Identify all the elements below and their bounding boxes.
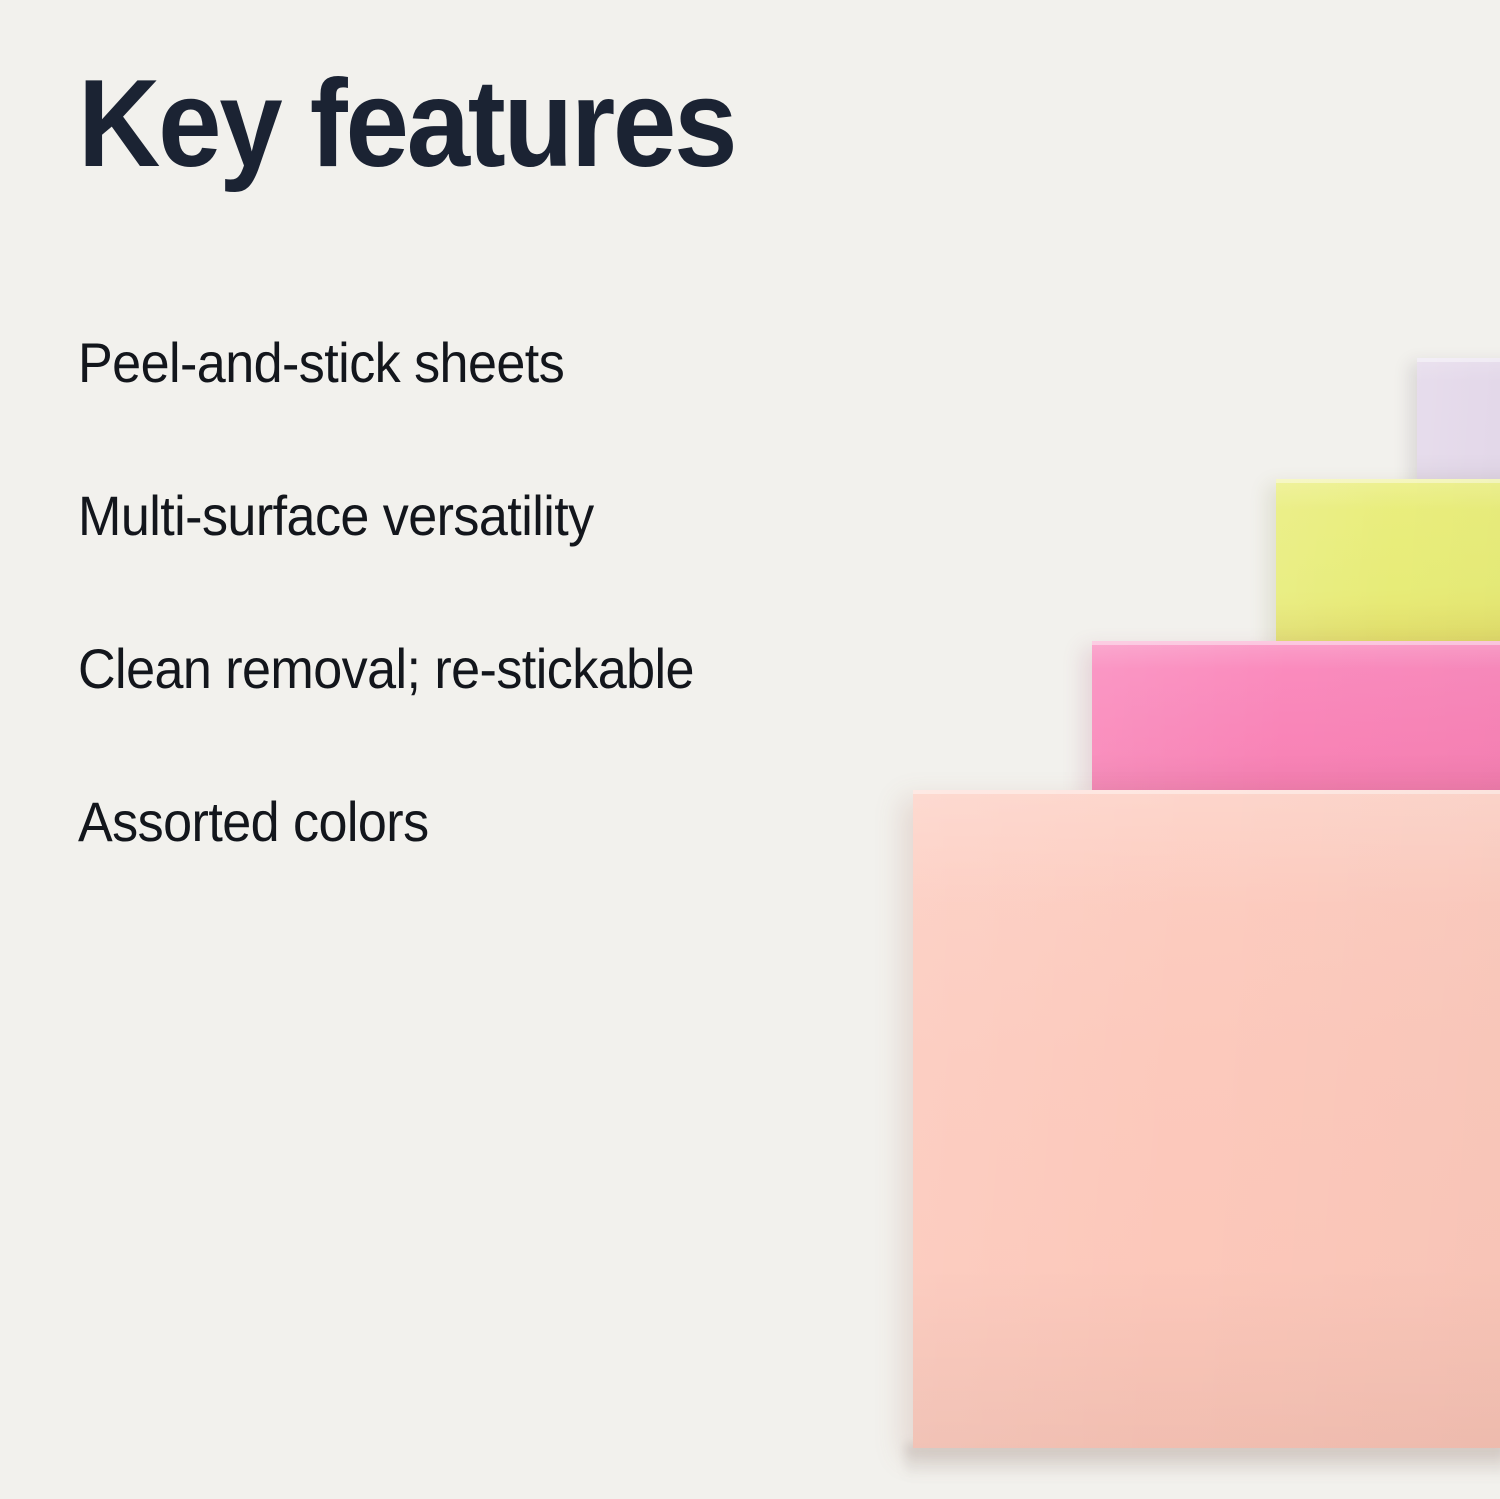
page-title: Key features [78, 62, 735, 186]
feature-item-assorted-colors: Assorted colors [78, 791, 938, 944]
pink-sticky-note [1092, 641, 1500, 796]
feature-item-peel-and-stick: Peel-and-stick sheets [78, 332, 938, 485]
feature-list: Peel-and-stick sheets Multi-surface vers… [78, 332, 938, 944]
feature-label: Multi-surface versatility [78, 485, 878, 547]
peach-sticky-note [913, 790, 1500, 1448]
feature-item-multi-surface: Multi-surface versatility [78, 485, 938, 638]
feature-label: Clean removal; re-stickable [78, 638, 878, 700]
product-feature-panel: Key features Peel-and-stick sheets Multi… [0, 0, 1500, 1499]
feature-label: Assorted colors [78, 791, 878, 853]
feature-text-column: Key features Peel-and-stick sheets Multi… [78, 0, 938, 1499]
lavender-sticky-note [1417, 358, 1500, 490]
feature-item-clean-removal: Clean removal; re-stickable [78, 638, 938, 791]
yellow-sticky-note [1276, 479, 1500, 651]
sticky-note-drop-shadow [905, 1444, 1500, 1478]
feature-label: Peel-and-stick sheets [78, 332, 878, 394]
